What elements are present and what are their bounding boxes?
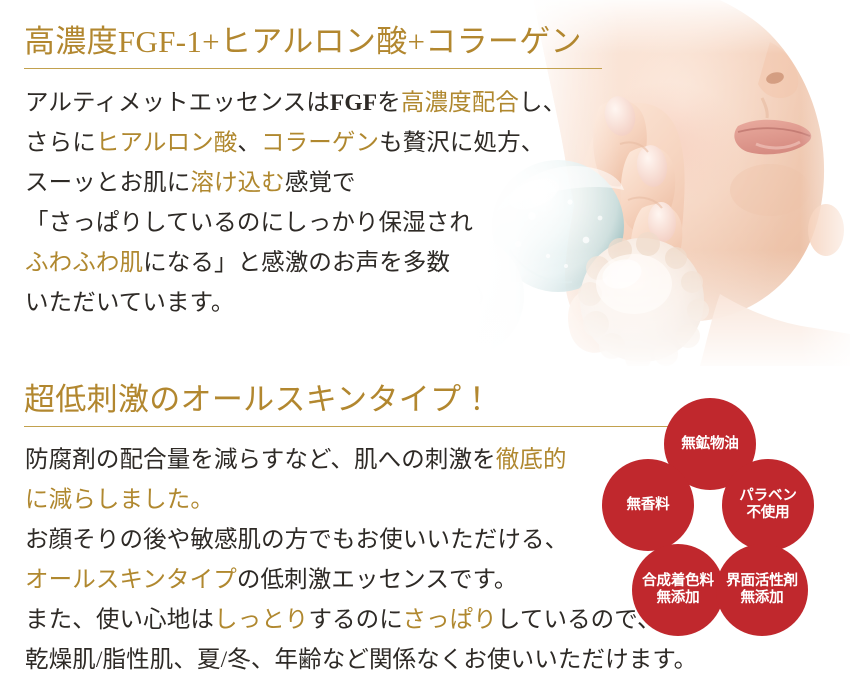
section-ultra-low-irritation: 超低刺激のオールスキンタイプ！ 防腐剤の配合量を減らすなど、肌への刺激を徹底的に… xyxy=(0,380,697,680)
body-text-run: さらに xyxy=(25,130,96,156)
essence-body-text: アルティメットエッセンスはFGFを高濃度配合し、さらにヒアルロン酸、コラーゲンも… xyxy=(0,69,602,323)
body-text-run: アルティメットエッセンスは xyxy=(25,90,330,116)
free-from-badge-cluster: 無鉱物油 無香料 パラベン不使用 合成着色料無添加 界面活性剤無添加 xyxy=(596,398,850,660)
skin-heading-rule xyxy=(24,426,680,427)
essence-heading-rule xyxy=(24,68,602,69)
body-line: さらにヒアルロン酸、コラーゲンも贅沢に処方、 xyxy=(25,123,602,163)
essence-heading: 高濃度FGF-1+ヒアルロン酸+コラーゲン xyxy=(0,22,602,68)
body-line: アルティメットエッセンスはFGFを高濃度配合し、 xyxy=(25,83,602,123)
body-text-run: ヒアルロン酸 xyxy=(96,130,237,156)
body-text-run: 、 xyxy=(237,130,261,156)
badge-label: 無香料 xyxy=(626,497,669,514)
body-text-run: の低刺激エッセンスです。 xyxy=(237,567,518,593)
body-text-run: するのに xyxy=(308,607,402,633)
body-text-run: しっとり xyxy=(214,607,308,633)
body-text-run: オールスキンタイプ xyxy=(25,567,237,593)
body-text-run: し、 xyxy=(519,90,566,116)
body-text-run: 高濃度配合 xyxy=(401,90,519,116)
body-text-run: 溶け込む xyxy=(190,170,284,196)
body-text-run: スーッとお肌に xyxy=(25,170,190,196)
badge-label: 界面活性剤無添加 xyxy=(726,573,798,607)
body-text-run: 徹底的 xyxy=(496,447,567,473)
body-text-run: お顔そりの後や敏感肌の方でもお使いいただける、 xyxy=(25,527,568,553)
badge-label: パラベン不使用 xyxy=(739,488,796,522)
body-text-run: コラーゲン xyxy=(261,130,379,156)
body-text-run: になる」と感激のお声を多数 xyxy=(143,250,450,276)
badge-no-surfactant: 界面活性剤無添加 xyxy=(716,544,808,636)
body-text-run: 感覚で xyxy=(285,170,356,196)
body-line: ふわふわ肌になる」と感激のお声を多数 xyxy=(25,243,602,283)
body-text-run: に減らしました。 xyxy=(25,487,214,513)
skin-heading: 超低刺激のオールスキンタイプ！ xyxy=(0,380,697,426)
badge-label: 合成着色料無添加 xyxy=(642,573,714,607)
product-feature-page: 高濃度FGF-1+ヒアルロン酸+コラーゲン アルティメットエッセンスはFGFを高… xyxy=(0,0,850,700)
body-text-run: また、使い心地は xyxy=(25,607,214,633)
body-line: いただいています。 xyxy=(25,283,602,323)
body-text-run: 防腐剤の配合量を減らすなど、肌への刺激を xyxy=(25,447,496,473)
badge-fragrance-free: 無香料 xyxy=(602,459,694,551)
body-line: 「さっぱりしているのにしっかり保湿され xyxy=(25,203,602,243)
badge-label: 無鉱物油 xyxy=(681,436,738,453)
body-text-run: も贅沢に処方、 xyxy=(379,130,544,156)
body-text-run: いただいています。 xyxy=(25,290,235,316)
body-text-run: さっぱり xyxy=(402,607,496,633)
skin-body-text: 防腐剤の配合量を減らすなど、肌への刺激を徹底的に減らしました。お顔そりの後や敏感… xyxy=(0,427,697,680)
badge-no-synthetic-colorant: 合成着色料無添加 xyxy=(632,544,724,636)
badge-paraben-free: パラベン不使用 xyxy=(722,459,814,551)
body-text-run: ふわふわ肌 xyxy=(25,250,143,276)
body-text-run: 「さっぱりしているのにしっかり保湿され xyxy=(25,210,473,236)
body-text-run: を xyxy=(377,90,401,116)
body-text-run: FGF xyxy=(330,90,377,116)
body-line: スーッとお肌に溶け込む感覚で xyxy=(25,163,602,203)
section-high-concentration-essence: 高濃度FGF-1+ヒアルロン酸+コラーゲン アルティメットエッセンスはFGFを高… xyxy=(0,22,602,323)
photo-fade-right xyxy=(800,0,850,366)
